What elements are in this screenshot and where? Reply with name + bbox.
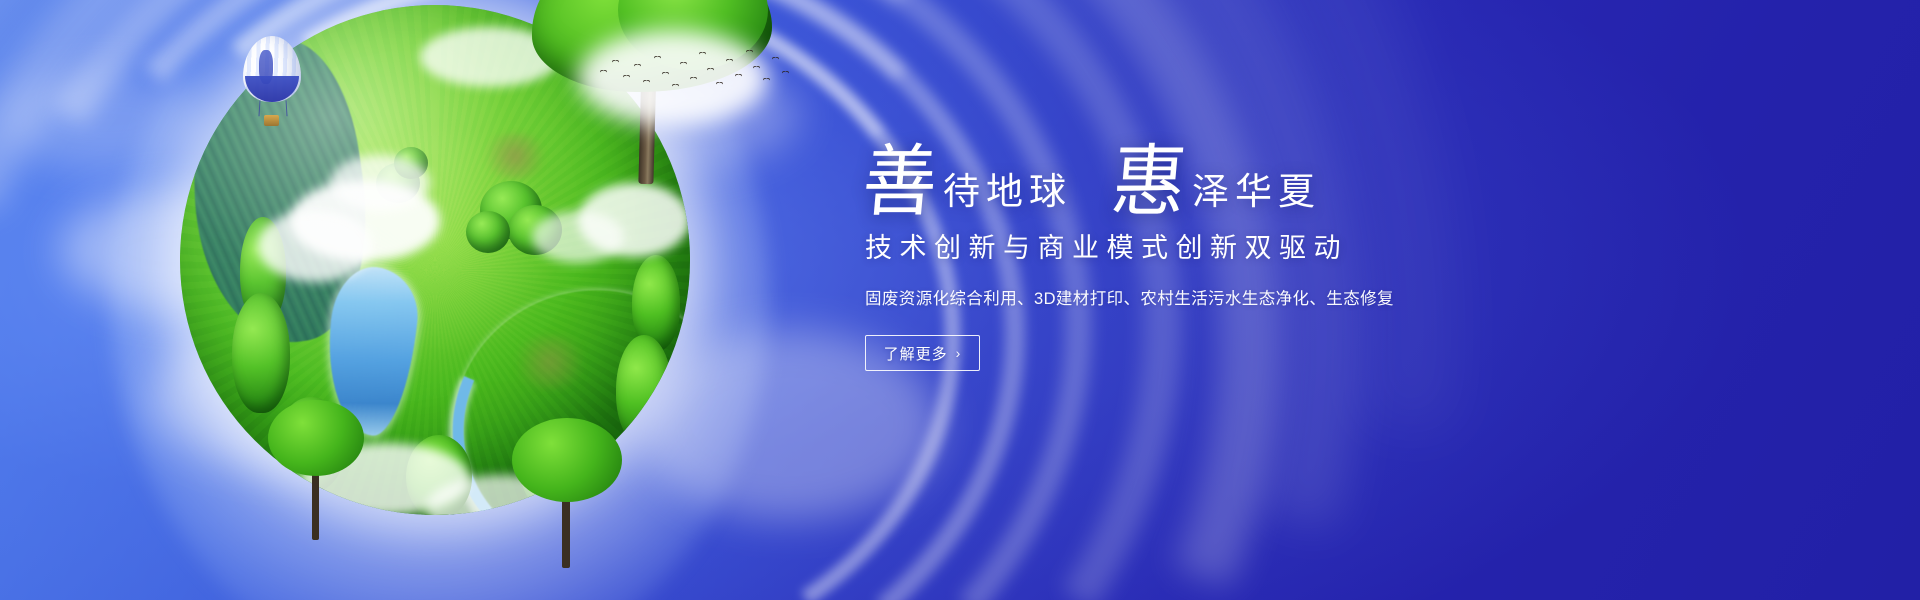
globe-bush-2 xyxy=(394,147,428,179)
small-tree-right-canopy xyxy=(512,418,622,502)
bird-icon xyxy=(726,59,733,63)
bird-icon xyxy=(735,74,742,78)
globe-dirt-patch-2 xyxy=(510,335,590,389)
bird-icon xyxy=(753,66,760,70)
globe-cloud-5 xyxy=(532,211,624,263)
globe-cloud-1 xyxy=(290,180,440,262)
bird-icon xyxy=(612,60,619,64)
balloon-band xyxy=(245,76,299,102)
bird-icon xyxy=(662,72,669,76)
bird-icon xyxy=(707,68,714,72)
hero-description: 固废资源化综合利用、3D建材打印、农村生活污水生态净化、生态修复 xyxy=(865,285,1563,309)
bird-icon xyxy=(623,75,630,79)
headline-lead-char-2: 惠 xyxy=(1109,146,1189,218)
bird-icon xyxy=(690,77,697,81)
hero-copy-block: 善 待地球 惠 泽华夏 技术创新与商业模式创新双驱动 固废资源化综合利用、3D建… xyxy=(863,124,1563,371)
bird-icon xyxy=(600,70,607,74)
globe-bush-3 xyxy=(480,181,542,239)
bird-icon xyxy=(699,52,706,56)
chevron-right-icon: › xyxy=(956,346,962,360)
globe-bush-5 xyxy=(466,211,510,253)
bird-icon xyxy=(634,64,641,68)
balloon-basket xyxy=(264,115,279,126)
headline-rest-1: 待地球 xyxy=(943,173,1072,216)
bird-icon xyxy=(680,62,687,66)
globe-bush-8 xyxy=(632,255,680,351)
bird-icon xyxy=(772,57,779,61)
globe-bush-12 xyxy=(406,435,472,515)
globe-cloud-4 xyxy=(578,183,690,257)
bird-flock-icon xyxy=(596,44,796,104)
globe-cloud-2 xyxy=(258,210,373,282)
hot-air-balloon-icon xyxy=(243,36,305,132)
small-tree-left-canopy xyxy=(268,400,364,476)
bird-icon xyxy=(782,71,789,75)
globe-bush-1 xyxy=(376,163,420,203)
globe-bush-9 xyxy=(616,335,672,445)
bird-icon xyxy=(746,50,753,54)
globe-bush-7 xyxy=(232,293,290,413)
hero-banner: 善 待地球 惠 泽华夏 技术创新与商业模式创新双驱动 固废资源化综合利用、3D建… xyxy=(0,0,1920,600)
headline-rest-2: 泽华夏 xyxy=(1192,173,1321,216)
balloon-lines xyxy=(258,100,287,116)
small-tree-right xyxy=(512,418,622,568)
learn-more-label: 了解更多 xyxy=(884,343,948,364)
headline-group-1: 善 待地球 xyxy=(863,148,1072,216)
globe-bush-6 xyxy=(240,217,286,325)
globe-cloud-3 xyxy=(330,155,430,211)
bird-icon xyxy=(716,82,723,86)
headline-group-2: 惠 泽华夏 xyxy=(1112,148,1321,216)
page-title: 善 待地球 惠 泽华夏 xyxy=(863,124,1563,216)
learn-more-button[interactable]: 了解更多 › xyxy=(865,335,980,371)
globe-bush-4 xyxy=(508,205,562,255)
bird-icon xyxy=(763,78,770,82)
bird-icon xyxy=(654,56,661,60)
small-tree-left xyxy=(268,400,364,540)
bird-icon xyxy=(643,80,650,84)
headline-lead-char-1: 善 xyxy=(860,146,940,218)
hero-subtitle: 技术创新与商业模式创新双驱动 xyxy=(865,226,1563,265)
bird-icon xyxy=(672,84,679,88)
cloud-blob-5 xyxy=(0,70,210,170)
